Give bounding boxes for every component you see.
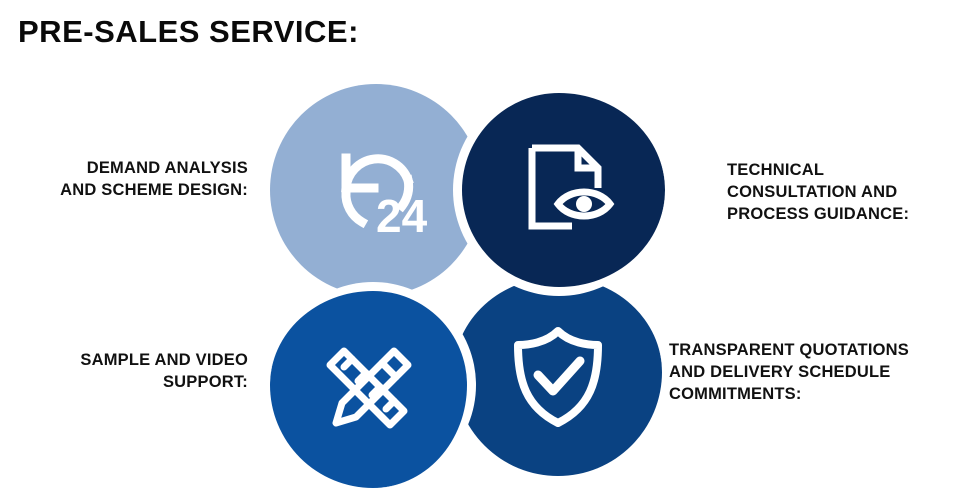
page-title: PRE-SALES SERVICE: — [18, 14, 359, 50]
circle-transparent-quotations[interactable] — [454, 268, 662, 476]
label-technical-consultation: TECHNICAL CONSULTATION AND PROCESS GUIDA… — [727, 160, 955, 225]
document-eye-icon — [512, 138, 616, 242]
label-demand-analysis: DEMAND ANALYSIS AND SCHEME DESIGN: — [8, 158, 248, 202]
svg-text:24: 24 — [376, 190, 428, 240]
clock-arrow-24-icon: 24 — [316, 140, 436, 240]
circle-technical-consultation[interactable] — [453, 84, 665, 296]
label-sample-video-support: SAMPLE AND VIDEO SUPPORT: — [8, 350, 248, 394]
circle-sample-video-support[interactable] — [270, 282, 476, 488]
pencil-ruler-icon — [314, 335, 424, 445]
circle-demand-analysis[interactable]: 24 — [270, 84, 482, 296]
label-transparent-quotations: TRANSPARENT QUOTATIONS AND DELIVERY SCHE… — [669, 340, 960, 405]
shield-check-icon — [508, 323, 608, 431]
circle-cluster: 24 — [270, 78, 670, 490]
